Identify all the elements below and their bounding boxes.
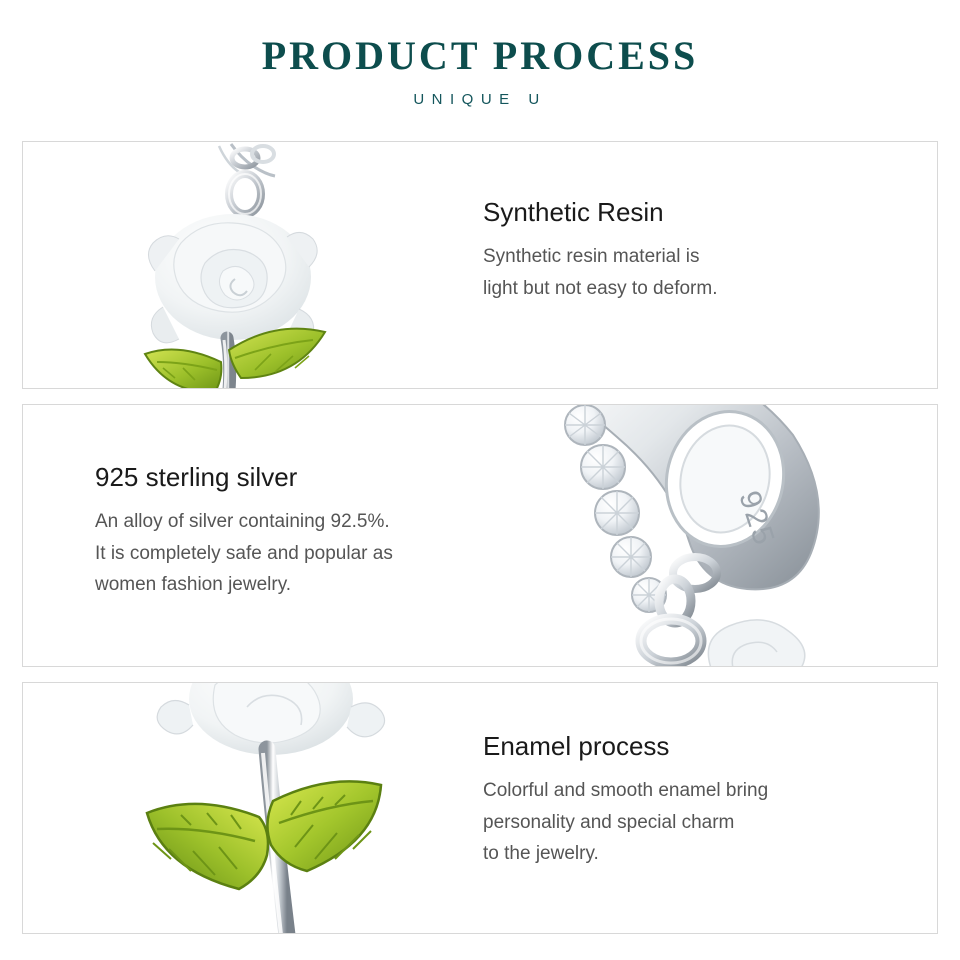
- panel-description-sterling-silver: An alloy of silver containing 92.5%. It …: [95, 506, 393, 600]
- page-subtitle: UNIQUE U: [0, 91, 960, 108]
- image-enamel-leaves: [23, 683, 473, 933]
- panel-enamel-process: Enamel process Colorful and smooth ename…: [22, 682, 938, 934]
- desc-line: personality and special charm: [483, 807, 768, 838]
- product-process-page: PRODUCT PROCESS UNIQUE U: [0, 0, 960, 960]
- panel-title-synthetic-resin: Synthetic Resin: [483, 197, 717, 228]
- panel-description-enamel-process: Colorful and smooth enamel bring persona…: [483, 775, 768, 869]
- text-block-enamel-process: Enamel process Colorful and smooth ename…: [483, 731, 768, 869]
- panel-description-synthetic-resin: Synthetic resin material is light but no…: [483, 241, 717, 304]
- page-header: PRODUCT PROCESS UNIQUE U: [0, 0, 960, 108]
- text-block-synthetic-resin: Synthetic Resin Synthetic resin material…: [483, 197, 717, 304]
- panel-title-sterling-silver: 925 sterling silver: [95, 462, 393, 493]
- panel-synthetic-resin: Synthetic Resin Synthetic resin material…: [22, 141, 938, 389]
- desc-line: An alloy of silver containing 92.5%.: [95, 506, 393, 537]
- desc-line: Colorful and smooth enamel bring: [483, 775, 768, 806]
- page-title: PRODUCT PROCESS: [0, 34, 960, 78]
- desc-line: women fashion jewelry.: [95, 569, 393, 600]
- image-sterling-silver-clasp: 925: [443, 405, 938, 666]
- image-synthetic-resin-rose: [23, 142, 463, 388]
- desc-line: light but not easy to deform.: [483, 273, 717, 304]
- panel-title-enamel-process: Enamel process: [483, 731, 768, 762]
- desc-line: to the jewelry.: [483, 838, 768, 869]
- panel-sterling-silver: 925 sterling silver An alloy of silver c…: [22, 404, 938, 667]
- desc-line: It is completely safe and popular as: [95, 538, 393, 569]
- desc-line: Synthetic resin material is: [483, 241, 717, 272]
- text-block-sterling-silver: 925 sterling silver An alloy of silver c…: [95, 462, 393, 600]
